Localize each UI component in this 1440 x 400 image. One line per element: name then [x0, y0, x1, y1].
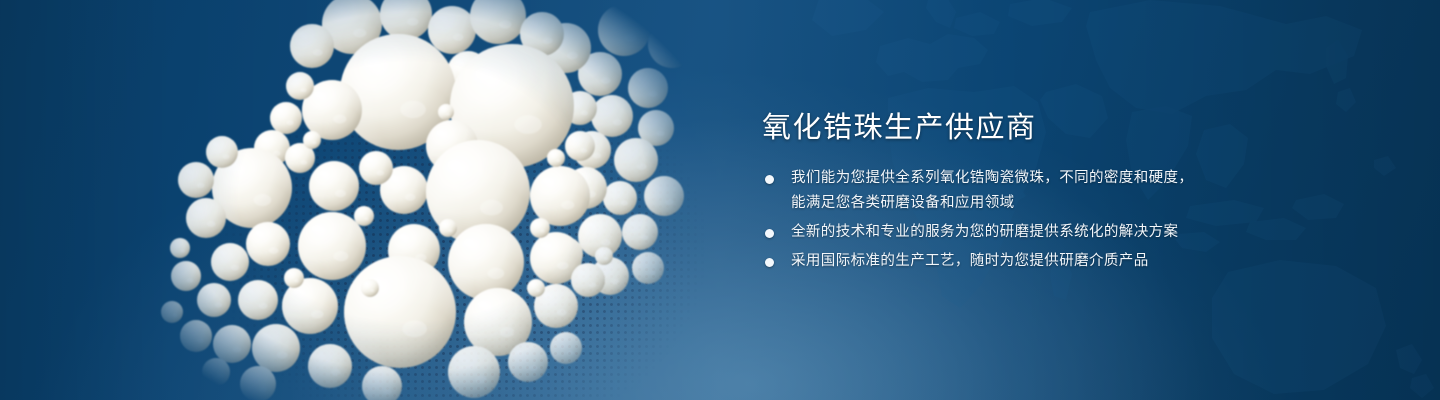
bullet-dot-icon — [765, 175, 774, 184]
bullet-line: 采用国际标准的生产工艺，随时为您提供研磨介质产品 — [791, 249, 1232, 274]
bullet-line: 我们能为您提供全系列氧化锆陶瓷微珠，不同的密度和硬度， — [791, 166, 1232, 191]
banner-copy: 氧化锆珠生产供应商 我们能为您提供全系列氧化锆陶瓷微珠，不同的密度和硬度， 能满… — [762, 108, 1232, 278]
bullet-dot-icon — [765, 229, 774, 238]
bullet-line: 全新的技术和专业的服务为您的研磨提供系统化的解决方案 — [791, 220, 1232, 245]
feature-bullet-item: 我们能为您提供全系列氧化锆陶瓷微珠，不同的密度和硬度， 能满足您各类研磨设备和应… — [762, 166, 1232, 216]
bullet-dot-icon — [765, 258, 774, 267]
feature-bullet-item: 采用国际标准的生产工艺，随时为您提供研磨介质产品 — [762, 249, 1232, 274]
feature-bullet-item: 全新的技术和专业的服务为您的研磨提供系统化的解决方案 — [762, 220, 1232, 245]
hero-banner: 氧化锆珠生产供应商 我们能为您提供全系列氧化锆陶瓷微珠，不同的密度和硬度， 能满… — [0, 0, 1440, 400]
feature-bullet-list: 我们能为您提供全系列氧化锆陶瓷微珠，不同的密度和硬度， 能满足您各类研磨设备和应… — [762, 166, 1232, 274]
banner-headline: 氧化锆珠生产供应商 — [762, 108, 1232, 148]
bullet-line: 能满足您各类研磨设备和应用领域 — [791, 191, 1232, 216]
